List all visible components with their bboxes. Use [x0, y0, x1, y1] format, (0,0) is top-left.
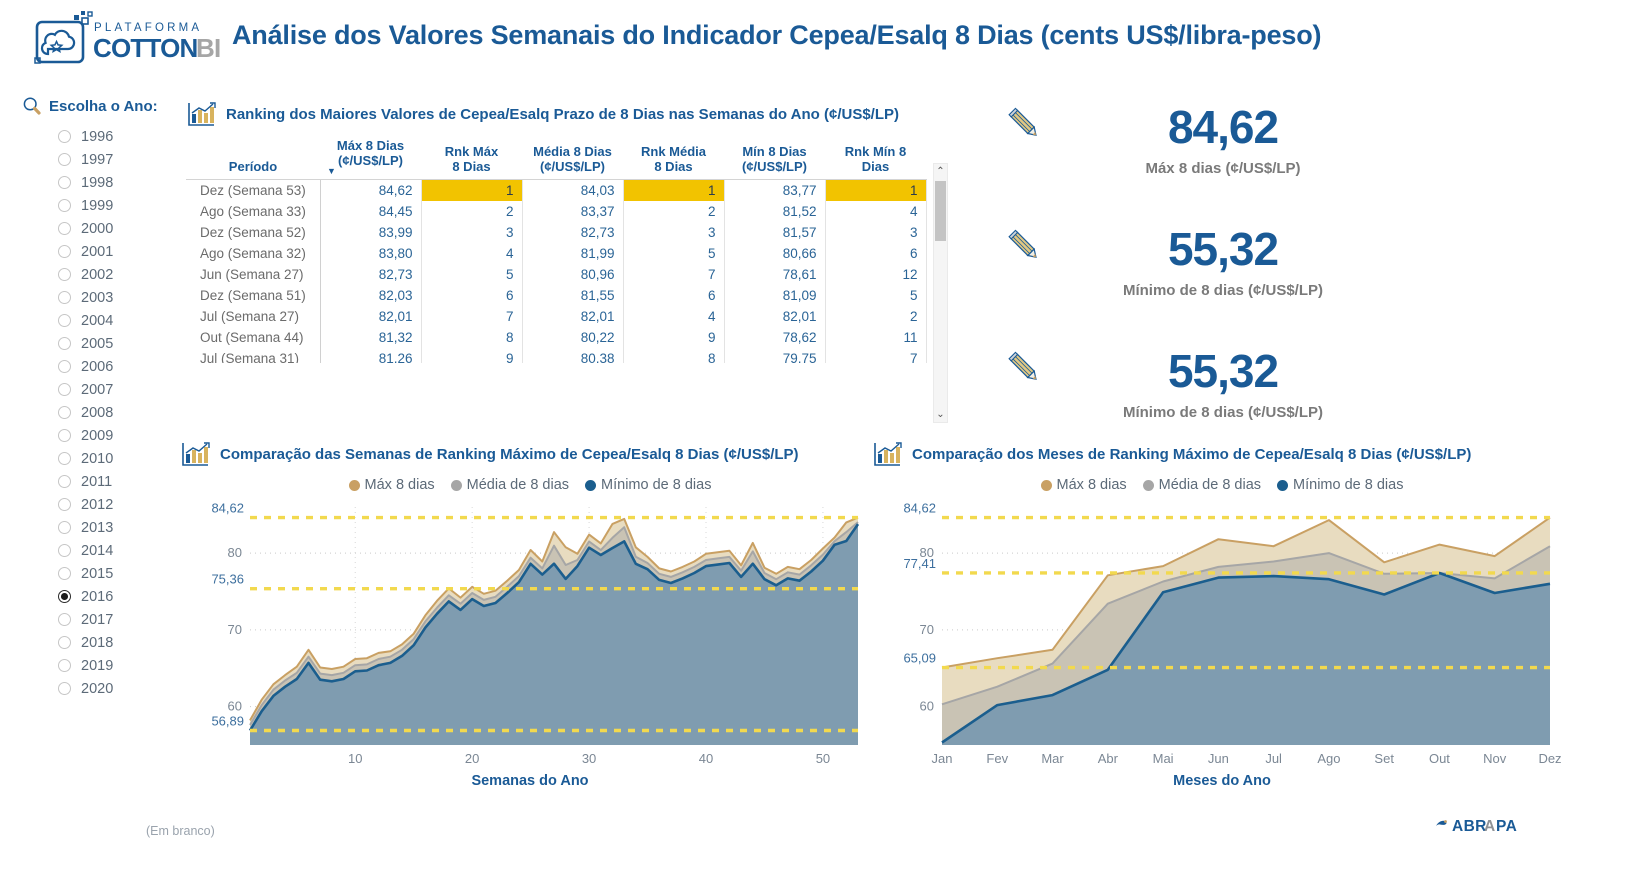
ytick-label-2: 80 — [920, 545, 934, 560]
table-row[interactable]: Jun (Semana 27)82,73580,96778,6112 — [186, 264, 926, 285]
cell-rnk-min: 4 — [825, 201, 926, 222]
kpi-card-min-1: 55,32 Mínimo de 8 dias (¢/US$/LP) — [1004, 226, 1378, 299]
pencil-icon — [1004, 226, 1046, 268]
kpi-value: 55,32 — [1068, 226, 1378, 272]
cell-rnk-media: 9 — [623, 327, 724, 348]
cell-min: 78,61 — [724, 264, 825, 285]
search-icon — [22, 96, 42, 116]
year-label: 2003 — [81, 290, 113, 306]
header: PLATAFORMA COTTON BI Análise dos Valores… — [0, 0, 1651, 78]
pencil-icon — [1004, 104, 1046, 146]
table-row[interactable]: Ago (Semana 33)84,45283,37281,524 — [186, 201, 926, 222]
radio-icon[interactable] — [58, 176, 71, 189]
legend-label: Mínimo de 8 dias — [1293, 477, 1403, 493]
xtick-label-8: Set — [1374, 751, 1394, 766]
ranking-table-wrapper: PeríodoMáx 8 Dias(¢/US$/LP)▼Rnk Máx8 Dia… — [186, 135, 948, 363]
cell-min: 83,77 — [724, 180, 825, 201]
radio-icon[interactable] — [58, 590, 71, 603]
year-label: 1998 — [81, 175, 113, 191]
months-chart-card: Comparação dos Meses de Ranking Máximo d… — [872, 440, 1572, 810]
xtick-label-2: 30 — [582, 751, 596, 766]
cell-periodo: Ago (Semana 33) — [186, 201, 320, 222]
svg-text:PA: PA — [1496, 818, 1517, 835]
cell-rnk-max: 2 — [421, 201, 522, 222]
legend-item-2[interactable]: Mínimo de 8 dias — [1277, 477, 1403, 493]
cell-rnk-min: 5 — [825, 285, 926, 306]
xtick-label-4: 50 — [816, 751, 830, 766]
legend-item-0[interactable]: Máx 8 dias — [349, 477, 435, 493]
reference-label-2: 65,09 — [903, 651, 936, 666]
cell-media: 83,37 — [522, 201, 623, 222]
legend-dot-icon — [1041, 480, 1052, 491]
cell-min: 79,75 — [724, 348, 825, 363]
cell-rnk-min: 1 — [825, 180, 926, 201]
ytick-label-0: 60 — [920, 699, 934, 714]
legend-item-1[interactable]: Média de 8 dias — [1143, 477, 1261, 493]
cell-rnk-max: 5 — [421, 264, 522, 285]
cell-max: 81,32 — [320, 327, 421, 348]
table-row[interactable]: Out (Semana 44)81,32880,22978,6211 — [186, 327, 926, 348]
ytick-label-1: 70 — [228, 622, 242, 637]
cell-rnk-max: 1 — [421, 180, 522, 201]
cell-media: 82,73 — [522, 222, 623, 243]
svg-text:ABR: ABR — [1452, 818, 1487, 835]
cell-rnk-media: 1 — [623, 180, 724, 201]
legend-label: Máx 8 dias — [1057, 477, 1127, 493]
radio-icon[interactable] — [58, 567, 71, 580]
kpi-label: Mínimo de 8 dias (¢/US$/LP) — [1068, 404, 1378, 421]
column-header-1[interactable]: Máx 8 Dias(¢/US$/LP)▼ — [320, 135, 421, 180]
blank-note: (Em branco) — [146, 824, 215, 838]
cell-periodo: Jul (Semana 31) — [186, 348, 320, 363]
radio-icon[interactable] — [58, 314, 71, 327]
pencil-icon — [1004, 348, 1046, 390]
ranking-table-head: PeríodoMáx 8 Dias(¢/US$/LP)▼Rnk Máx8 Dia… — [186, 135, 926, 180]
cell-rnk-max: 3 — [421, 222, 522, 243]
year-label: 2018 — [81, 635, 113, 651]
col-line-1: Rnk Máx — [428, 145, 515, 160]
year-option-2002[interactable]: 2002 — [22, 263, 182, 286]
legend-label: Média de 8 dias — [467, 477, 569, 493]
ytick-label-0: 60 — [228, 699, 242, 714]
radio-icon[interactable] — [58, 130, 71, 143]
col-line-1: Máx 8 Dias — [327, 139, 414, 154]
year-option-2010[interactable]: 2010 — [22, 447, 182, 470]
column-header-2[interactable]: Rnk Máx8 Dias — [421, 135, 522, 180]
cell-rnk-media: 4 — [623, 306, 724, 327]
column-header-0[interactable]: Período — [186, 135, 320, 180]
year-label: 1996 — [81, 129, 113, 145]
year-option-2001[interactable]: 2001 — [22, 240, 182, 263]
cell-rnk-min: 2 — [825, 306, 926, 327]
year-label: 2012 — [81, 497, 113, 513]
table-row[interactable]: Dez (Semana 51)82,03681,55681,095 — [186, 285, 926, 306]
year-option-2006[interactable]: 2006 — [22, 355, 182, 378]
cell-media: 80,22 — [522, 327, 623, 348]
legend-label: Máx 8 dias — [365, 477, 435, 493]
col-line-1: Rnk Mín 8 — [832, 145, 919, 160]
cell-periodo: Dez (Semana 52) — [186, 222, 320, 243]
legend-item-2[interactable]: Mínimo de 8 dias — [585, 477, 711, 493]
xtick-label-3: Abr — [1098, 751, 1119, 766]
cell-rnk-media: 3 — [623, 222, 724, 243]
cell-rnk-min: 3 — [825, 222, 926, 243]
cell-max: 84,62 — [320, 180, 421, 201]
cell-periodo: Out (Semana 44) — [186, 327, 320, 348]
months-chart-header: Comparação dos Meses de Ranking Máximo d… — [872, 440, 1572, 468]
year-option-2015[interactable]: 2015 — [22, 562, 182, 585]
cell-rnk-max: 9 — [421, 348, 522, 363]
year-option-2007[interactable]: 2007 — [22, 378, 182, 401]
year-option-2004[interactable]: 2004 — [22, 309, 182, 332]
cell-max: 82,01 — [320, 306, 421, 327]
radio-icon[interactable] — [58, 498, 71, 511]
months-xaxis-title: Meses do Ano — [872, 773, 1572, 789]
bar-chart-icon — [186, 100, 216, 128]
col-line-1: Média 8 Dias — [529, 145, 616, 160]
xtick-label-6: Jul — [1265, 751, 1282, 766]
weeks-chart-header: Comparação das Semanas de Ranking Máximo… — [180, 440, 880, 468]
year-option-2011[interactable]: 2011 — [22, 470, 182, 493]
weeks-chart-svg: 84,6275,3656,896070801020304050 — [180, 499, 870, 771]
scroll-up-icon[interactable]: ⌃ — [934, 164, 947, 179]
cottonbi-logo: PLATAFORMA COTTON BI — [30, 8, 230, 70]
cell-periodo: Jul (Semana 27) — [186, 306, 320, 327]
abrapa-logo: ABR A PA — [1434, 812, 1526, 841]
year-option-1999[interactable]: 1999 — [22, 194, 182, 217]
svg-text:A: A — [1484, 818, 1496, 835]
radio-icon[interactable] — [58, 636, 71, 649]
year-label: 2010 — [81, 451, 113, 467]
legend-item-1[interactable]: Média de 8 dias — [451, 477, 569, 493]
radio-icon[interactable] — [58, 153, 71, 166]
year-option-2014[interactable]: 2014 — [22, 539, 182, 562]
col-line-1: Mín 8 Dias — [731, 145, 818, 160]
radio-icon[interactable] — [58, 360, 71, 373]
table-scrollbar[interactable]: ⌃ ⌄ — [933, 163, 948, 423]
column-header-5[interactable]: Mín 8 Dias(¢/US$/LP) — [724, 135, 825, 180]
column-header-4[interactable]: Rnk Média8 Dias — [623, 135, 724, 180]
xtick-label-1: 20 — [465, 751, 479, 766]
weeks-chart-card: Comparação das Semanas de Ranking Máximo… — [180, 440, 880, 810]
year-label: 1997 — [81, 152, 113, 168]
page-title: Análise dos Valores Semanais do Indicado… — [232, 20, 1321, 51]
cell-rnk-max: 8 — [421, 327, 522, 348]
radio-icon[interactable] — [58, 682, 71, 695]
cell-media: 81,55 — [522, 285, 623, 306]
year-label: 2008 — [81, 405, 113, 421]
months-plot: 84,6277,4165,09607080JanFevMarAbrMaiJunJ… — [872, 499, 1572, 771]
radio-icon[interactable] — [58, 245, 71, 258]
year-option-1996[interactable]: 1996 — [22, 125, 182, 148]
cell-max: 84,45 — [320, 201, 421, 222]
reference-label-0: 84,62 — [903, 501, 936, 516]
radio-icon[interactable] — [58, 222, 71, 235]
year-list[interactable]: 1996199719981999200020012002200320042005… — [22, 125, 182, 700]
xtick-label-11: Dez — [1538, 751, 1561, 766]
col-line-2: (¢/US$/LP) — [327, 154, 414, 169]
xtick-label-9: Out — [1429, 751, 1450, 766]
ranking-card: Ranking dos Maiores Valores de Cepea/Esa… — [186, 100, 991, 363]
xtick-label-7: Ago — [1317, 751, 1340, 766]
kpi-text-max: 84,62 Máx 8 dias (¢/US$/LP) — [1068, 104, 1378, 177]
bar-chart-icon — [180, 440, 210, 468]
legend-item-0[interactable]: Máx 8 dias — [1041, 477, 1127, 493]
cell-max: 82,73 — [320, 264, 421, 285]
table-row[interactable]: Ago (Semana 32)83,80481,99580,666 — [186, 243, 926, 264]
year-label: 2001 — [81, 244, 113, 260]
radio-icon[interactable] — [58, 337, 71, 350]
cell-min: 78,62 — [724, 327, 825, 348]
year-option-2009[interactable]: 2009 — [22, 424, 182, 447]
cell-periodo: Jun (Semana 27) — [186, 264, 320, 285]
kpi-text-min-1: 55,32 Mínimo de 8 dias (¢/US$/LP) — [1068, 226, 1378, 299]
months-chart-legend[interactable]: Máx 8 diasMédia de 8 diasMínimo de 8 dia… — [872, 477, 1572, 493]
cell-min: 82,01 — [724, 306, 825, 327]
cottonbi-logo-icon: PLATAFORMA COTTON BI — [30, 8, 230, 70]
legend-dot-icon — [585, 480, 596, 491]
col-line-1: Período — [193, 160, 313, 175]
cell-periodo: Ago (Semana 32) — [186, 243, 320, 264]
cell-rnk-media: 8 — [623, 348, 724, 363]
xtick-label-0: Jan — [932, 751, 953, 766]
col-line-2: 8 Dias — [428, 160, 515, 175]
legend-label: Média de 8 dias — [1159, 477, 1261, 493]
weeks-xaxis-title: Semanas do Ano — [180, 773, 880, 789]
cell-rnk-min: 7 — [825, 348, 926, 363]
year-label: 2000 — [81, 221, 113, 237]
slicer-header: Escolha o Ano: — [22, 96, 182, 116]
cell-periodo: Dez (Semana 53) — [186, 180, 320, 201]
weeks-chart-title: Comparação das Semanas de Ranking Máximo… — [220, 446, 799, 463]
kpi-value: 55,32 — [1068, 348, 1378, 394]
year-option-2018[interactable]: 2018 — [22, 631, 182, 654]
cell-min: 80,66 — [724, 243, 825, 264]
year-label: 2019 — [81, 658, 113, 674]
abrapa-logo-icon: ABR A PA — [1434, 812, 1526, 836]
year-option-2020[interactable]: 2020 — [22, 677, 182, 700]
legend-dot-icon — [1277, 480, 1288, 491]
weeks-plot: 84,6275,3656,896070801020304050 — [180, 499, 880, 771]
cell-media: 80,96 — [522, 264, 623, 285]
col-line-2: Dias — [832, 160, 919, 175]
sort-desc-icon[interactable]: ▼ — [327, 169, 414, 174]
xtick-label-3: 40 — [699, 751, 713, 766]
radio-icon[interactable] — [58, 659, 71, 672]
legend-label: Mínimo de 8 dias — [601, 477, 711, 493]
kpi-text-min-2: 55,32 Mínimo de 8 dias (¢/US$/LP) — [1068, 348, 1378, 421]
svg-text:COTTON: COTTON — [93, 33, 198, 63]
ranking-table-body: Dez (Semana 53)84,62184,03183,771Ago (Se… — [186, 180, 926, 363]
radio-icon[interactable] — [58, 475, 71, 488]
legend-dot-icon — [451, 480, 462, 491]
year-option-2008[interactable]: 2008 — [22, 401, 182, 424]
cell-rnk-max: 4 — [421, 243, 522, 264]
radio-icon[interactable] — [58, 406, 71, 419]
xtick-label-2: Mar — [1041, 751, 1064, 766]
year-option-2005[interactable]: 2005 — [22, 332, 182, 355]
slicer-title: Escolha o Ano: — [49, 98, 158, 115]
ranking-table-viewport: PeríodoMáx 8 Dias(¢/US$/LP)▼Rnk Máx8 Dia… — [186, 135, 948, 363]
col-line-2: 8 Dias — [630, 160, 717, 175]
table-row[interactable]: Jul (Semana 31)81,26980,38879,757 — [186, 348, 926, 363]
cell-max: 83,99 — [320, 222, 421, 243]
year-option-2016[interactable]: 2016 — [22, 585, 182, 608]
cell-min: 81,09 — [724, 285, 825, 306]
legend-dot-icon — [1143, 480, 1154, 491]
year-option-2003[interactable]: 2003 — [22, 286, 182, 309]
cell-max: 81,26 — [320, 348, 421, 363]
xtick-label-10: Nov — [1483, 751, 1507, 766]
table-row[interactable]: Jul (Semana 27)82,01782,01482,012 — [186, 306, 926, 327]
cell-periodo: Dez (Semana 51) — [186, 285, 320, 306]
cell-rnk-min: 12 — [825, 264, 926, 285]
column-header-6[interactable]: Rnk Mín 8Dias — [825, 135, 926, 180]
scrollbar-thumb[interactable] — [935, 181, 946, 241]
cell-rnk-media: 2 — [623, 201, 724, 222]
radio-icon[interactable] — [58, 268, 71, 281]
radio-icon[interactable] — [58, 383, 71, 396]
year-label: 2020 — [81, 681, 113, 697]
dashboard-page: PLATAFORMA COTTON BI Análise dos Valores… — [0, 0, 1651, 885]
year-label: 2009 — [81, 428, 113, 444]
year-label: 2005 — [81, 336, 113, 352]
xtick-label-1: Fev — [986, 751, 1008, 766]
cell-media: 82,01 — [522, 306, 623, 327]
year-label: 2011 — [81, 474, 112, 490]
ranking-title: Ranking dos Maiores Valores de Cepea/Esa… — [226, 106, 899, 123]
cell-rnk-media: 5 — [623, 243, 724, 264]
cell-rnk-min: 6 — [825, 243, 926, 264]
radio-icon[interactable] — [58, 613, 71, 626]
xtick-label-5: Jun — [1208, 751, 1229, 766]
months-chart-title: Comparação dos Meses de Ranking Máximo d… — [912, 446, 1471, 463]
year-option-2017[interactable]: 2017 — [22, 608, 182, 631]
year-label: 2006 — [81, 359, 113, 375]
reference-label-2: 56,89 — [211, 713, 244, 728]
kpi-value: 84,62 — [1068, 104, 1378, 150]
reference-label-1: 75,36 — [211, 572, 244, 587]
kpi-label: Máx 8 dias (¢/US$/LP) — [1068, 160, 1378, 177]
cell-rnk-max: 7 — [421, 306, 522, 327]
weeks-chart-legend[interactable]: Máx 8 diasMédia de 8 diasMínimo de 8 dia… — [180, 477, 880, 493]
year-label: 2017 — [81, 612, 113, 628]
xtick-label-4: Mai — [1153, 751, 1174, 766]
year-label: 2002 — [81, 267, 113, 283]
bar-chart-icon — [872, 440, 902, 468]
year-label: 1999 — [81, 198, 113, 214]
cell-max: 82,03 — [320, 285, 421, 306]
year-option-2000[interactable]: 2000 — [22, 217, 182, 240]
radio-icon[interactable] — [58, 452, 71, 465]
year-label: 2016 — [81, 589, 113, 605]
xtick-label-0: 10 — [348, 751, 362, 766]
ranking-table: PeríodoMáx 8 Dias(¢/US$/LP)▼Rnk Máx8 Dia… — [186, 135, 927, 363]
year-option-2013[interactable]: 2013 — [22, 516, 182, 539]
radio-icon[interactable] — [58, 521, 71, 534]
ranking-header: Ranking dos Maiores Valores de Cepea/Esa… — [186, 100, 991, 128]
ytick-label-2: 80 — [228, 545, 242, 560]
table-row[interactable]: Dez (Semana 53)84,62184,03183,771 — [186, 180, 926, 201]
year-label: 2013 — [81, 520, 113, 536]
year-option-1998[interactable]: 1998 — [22, 171, 182, 194]
year-label: 2007 — [81, 382, 113, 398]
cell-rnk-media: 7 — [623, 264, 724, 285]
ytick-label-1: 70 — [920, 622, 934, 637]
cell-rnk-max: 6 — [421, 285, 522, 306]
year-label: 2014 — [81, 543, 113, 559]
radio-icon[interactable] — [58, 544, 71, 557]
months-chart-svg: 84,6277,4165,09607080JanFevMarAbrMaiJunJ… — [872, 499, 1562, 771]
kpi-card-min-2: 55,32 Mínimo de 8 dias (¢/US$/LP) — [1004, 348, 1378, 421]
cell-media: 84,03 — [522, 180, 623, 201]
cell-max: 83,80 — [320, 243, 421, 264]
svg-text:BI: BI — [196, 33, 220, 63]
column-header-3[interactable]: Média 8 Dias(¢/US$/LP) — [522, 135, 623, 180]
col-line-1: Rnk Média — [630, 145, 717, 160]
reference-label-0: 84,62 — [211, 501, 244, 516]
col-line-2: (¢/US$/LP) — [731, 160, 818, 175]
scroll-down-icon[interactable]: ⌄ — [934, 407, 947, 422]
cell-media: 80,38 — [522, 348, 623, 363]
cell-min: 81,57 — [724, 222, 825, 243]
cell-rnk-min: 11 — [825, 327, 926, 348]
year-option-1997[interactable]: 1997 — [22, 148, 182, 171]
table-row[interactable]: Dez (Semana 52)83,99382,73381,573 — [186, 222, 926, 243]
cell-media: 81,99 — [522, 243, 623, 264]
table-header-row: PeríodoMáx 8 Dias(¢/US$/LP)▼Rnk Máx8 Dia… — [186, 135, 926, 180]
year-option-2019[interactable]: 2019 — [22, 654, 182, 677]
year-option-2012[interactable]: 2012 — [22, 493, 182, 516]
year-slicer[interactable]: Escolha o Ano: 1996199719981999200020012… — [22, 96, 182, 700]
kpi-label: Mínimo de 8 dias (¢/US$/LP) — [1068, 282, 1378, 299]
cell-rnk-media: 6 — [623, 285, 724, 306]
year-label: 2004 — [81, 313, 113, 329]
kpi-card-max: 84,62 Máx 8 dias (¢/US$/LP) — [1004, 104, 1378, 177]
year-label: 2015 — [81, 566, 113, 582]
legend-dot-icon — [349, 480, 360, 491]
radio-icon[interactable] — [58, 429, 71, 442]
radio-icon[interactable] — [58, 291, 71, 304]
cell-min: 81,52 — [724, 201, 825, 222]
radio-icon[interactable] — [58, 199, 71, 212]
col-line-2: (¢/US$/LP) — [529, 160, 616, 175]
